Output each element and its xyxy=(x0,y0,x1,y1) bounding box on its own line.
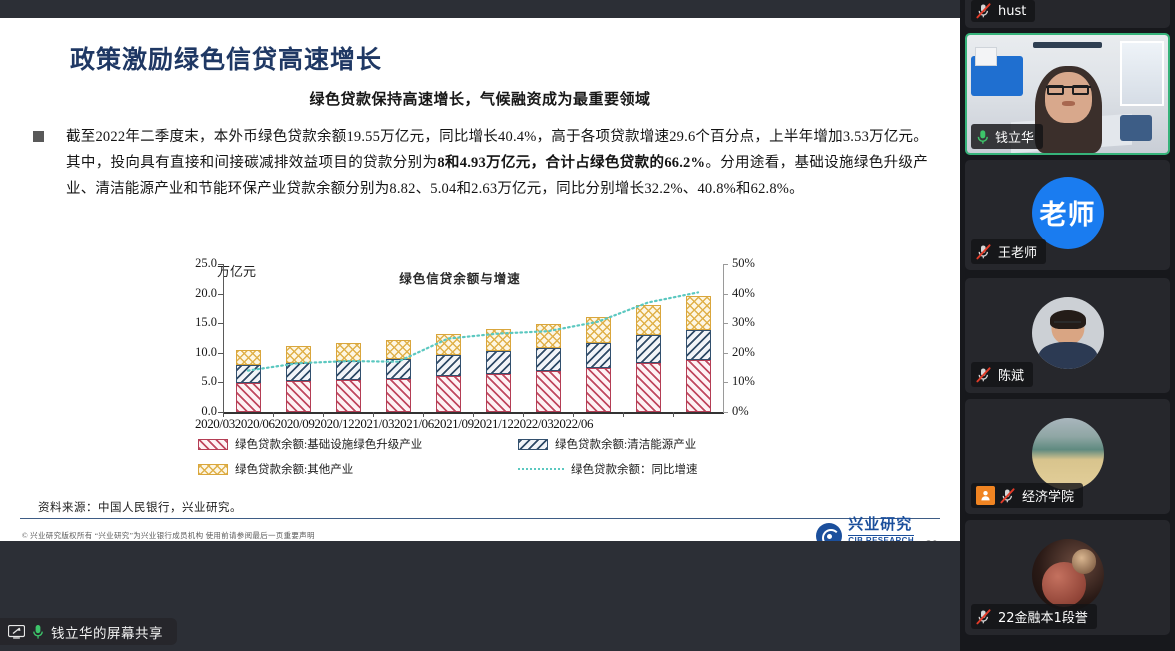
body-paragraph-block: 截至2022年二季度末，本外币绿色贷款余额19.55万亿元，同比增长40.4%，… xyxy=(33,124,933,202)
chart-bar-segment xyxy=(686,360,711,412)
participant-name: 王老师 xyxy=(998,242,1037,261)
chart-bar-segment xyxy=(586,317,611,344)
y-tick-left: 15.0 xyxy=(195,315,217,330)
y-tick-mark-right xyxy=(723,382,728,383)
y-tick-mark-right xyxy=(723,353,728,354)
microphone-muted-icon xyxy=(1000,488,1017,504)
legend-label-infrastructure: 绿色贷款余额:基础设施绿色升级产业 xyxy=(235,436,422,452)
chart-bar xyxy=(486,329,511,412)
y-tick-right: 30% xyxy=(732,315,755,330)
microphone-muted-icon xyxy=(976,367,993,383)
page-number: 29 xyxy=(926,537,938,541)
square-bullet-icon xyxy=(33,131,44,142)
participant-name: 经济学院 xyxy=(1022,486,1074,505)
y-tick-mark-right xyxy=(723,323,728,324)
y-tick-right: 10% xyxy=(732,374,755,389)
chart-bar xyxy=(586,317,611,412)
microphone-muted-icon xyxy=(1000,488,1017,504)
chart-bar-segment xyxy=(336,361,361,380)
microphone-on-icon xyxy=(32,624,44,640)
chart-bar-segment xyxy=(636,335,661,363)
legend-row: 绿色贷款余额:其他产业 绿色贷款余额：同比增速 xyxy=(198,461,778,477)
avatar xyxy=(1032,418,1104,490)
chart-bar-segment xyxy=(236,350,261,365)
legend-swatch-infrastructure xyxy=(198,439,228,450)
slide-subtitle: 绿色贷款保持高速增长，气候融资成为最重要领域 xyxy=(0,88,960,109)
chart-bar xyxy=(386,340,411,412)
y-tick-mark-left xyxy=(218,353,223,354)
legend-swatch-growth xyxy=(518,464,564,475)
avatar xyxy=(1032,539,1104,611)
y-tick-right: 40% xyxy=(732,286,755,301)
legend-swatch-other xyxy=(198,464,228,475)
logo-name-cn: 兴业研究 xyxy=(848,518,914,534)
chart-bar-segment xyxy=(486,374,511,412)
participant-tile[interactable]: 22金融本1段誉 xyxy=(965,520,1170,635)
chart-bar-segment xyxy=(236,365,261,383)
body-paragraph: 截至2022年二季度末，本外币绿色贷款余额19.55万亿元，同比增长40.4%，… xyxy=(66,124,928,202)
microphone-muted-icon xyxy=(976,244,993,260)
chart-bar-segment xyxy=(586,368,611,412)
participant-name-chip: 经济学院 xyxy=(971,483,1083,508)
copyright-note: © 兴业研究版权所有 “兴业研究”为兴业银行成员机构 使用前请参阅最后一页重要声… xyxy=(22,530,315,541)
microphone-muted-icon xyxy=(976,244,993,260)
legend-item-infrastructure: 绿色贷款余额:基础设施绿色升级产业 xyxy=(198,436,518,452)
y-tick-mark-left xyxy=(218,382,223,383)
shared-screen-region[interactable]: 政策激励绿色信贷高速增长 绿色贷款保持高速增长，气候融资成为最重要领域 截至20… xyxy=(0,0,960,651)
legend-swatch-clean-energy xyxy=(518,439,548,450)
y-tick-right: 20% xyxy=(732,345,755,360)
y-tick-left: 20.0 xyxy=(195,286,217,301)
logo-text-group: 兴业研究 CIB RESEARCH 金融资产专业定价 xyxy=(848,518,914,541)
chart-bar-segment xyxy=(436,334,461,355)
y-tick-left: 25.0 xyxy=(195,256,217,271)
chart-bar-segment xyxy=(686,330,711,360)
legend-item-clean-energy: 绿色贷款余额:清洁能源产业 xyxy=(518,436,696,452)
logo-name-en: CIB RESEARCH xyxy=(848,535,914,541)
avatar-initials: 老师 xyxy=(1040,193,1096,232)
participant-name-chip: 22金融本1段誉 xyxy=(971,604,1097,629)
chart-bar-segment xyxy=(536,371,561,412)
cib-swirl-icon xyxy=(816,523,842,541)
participant-name: 22金融本1段誉 xyxy=(998,607,1088,626)
chart-bar xyxy=(436,334,461,412)
participant-sidebar[interactable]: hust 钱立华老师 xyxy=(960,0,1175,651)
participant-tile[interactable]: 老师 王老师 xyxy=(965,160,1170,270)
chart-bar-segment xyxy=(386,340,411,359)
microphone-muted-icon xyxy=(976,609,993,625)
source-note: 资料来源：中国人民银行，兴业研究。 xyxy=(38,499,242,515)
participant-tile[interactable]: 钱立华 xyxy=(965,33,1170,155)
chart-bar-segment xyxy=(436,355,461,376)
chart-bar-segment xyxy=(636,305,661,335)
participant-tile[interactable]: hust xyxy=(965,0,1170,28)
microphone-muted-icon xyxy=(976,367,993,383)
y-tick-mark-left xyxy=(218,323,223,324)
chart-bar-segment xyxy=(436,376,461,412)
chart-legend: 绿色贷款余额:基础设施绿色升级产业 绿色贷款余额:清洁能源产业 绿色贷款余额:其… xyxy=(198,436,778,484)
screen-share-status-bar[interactable]: 钱立华的屏幕共享 xyxy=(0,618,177,645)
chart-bar-segment xyxy=(536,348,561,370)
legend-label-clean-energy: 绿色贷款余额:清洁能源产业 xyxy=(555,436,696,452)
legend-row: 绿色贷款余额:基础设施绿色升级产业 绿色贷款余额:清洁能源产业 xyxy=(198,436,778,452)
screen-share-icon xyxy=(8,625,25,639)
chart-bar-segment xyxy=(486,351,511,373)
brand-logo: 兴业研究 CIB RESEARCH 金融资产专业定价 29 xyxy=(816,518,938,541)
y-tick-mark-right xyxy=(723,412,728,413)
presentation-slide: 政策激励绿色信贷高速增长 绿色贷款保持高速增长，气候融资成为最重要领域 截至20… xyxy=(0,18,960,541)
chart-bar xyxy=(536,324,561,412)
conference-window: 政策激励绿色信贷高速增长 绿色贷款保持高速增长，气候融资成为最重要领域 截至20… xyxy=(0,0,1175,651)
participant-name: 钱立华 xyxy=(995,127,1034,146)
chart-bar xyxy=(686,296,711,412)
chart-bar-segment xyxy=(336,343,361,361)
chart-bar xyxy=(336,343,361,412)
host-badge-icon xyxy=(976,486,995,505)
microphone-on-icon xyxy=(976,129,990,145)
chart-bar-segment xyxy=(636,363,661,412)
microphone-muted-icon xyxy=(976,3,993,19)
participant-name: hust xyxy=(998,4,1026,19)
screen-share-owner-label: 钱立华的屏幕共享 xyxy=(51,622,163,642)
chart-bar-segment xyxy=(686,296,711,330)
participant-name: 陈斌 xyxy=(998,365,1024,384)
y-tick-left: 10.0 xyxy=(195,345,217,360)
chart-bar-segment xyxy=(536,324,561,348)
chart-bar-segment xyxy=(286,381,311,412)
participant-name-chip: 王老师 xyxy=(971,239,1046,264)
participant-name-chip: 钱立华 xyxy=(971,124,1043,149)
microphone-muted-icon xyxy=(976,3,993,19)
microphone-muted-icon xyxy=(976,609,993,625)
chart-bar-segment xyxy=(286,346,311,363)
participant-tile[interactable]: 经济学院 xyxy=(965,399,1170,514)
chart-y-axis-right xyxy=(723,264,724,412)
participant-name-chip: hust xyxy=(971,0,1035,22)
participant-tile[interactable]: 陈斌 xyxy=(965,278,1170,393)
chart-bar-segment xyxy=(586,343,611,368)
participant-name-chip: 陈斌 xyxy=(971,362,1033,387)
y-tick-right: 50% xyxy=(732,256,755,271)
chart-bar-segment xyxy=(386,379,411,412)
page-title: 政策激励绿色信贷高速增长 xyxy=(70,40,382,76)
chart-bar-segment xyxy=(236,383,261,412)
chart-bar-segment xyxy=(336,380,361,412)
chart-plot-area: 0.05.010.015.020.025.00%10%20%30%40%50% xyxy=(223,264,723,412)
legend-label-other: 绿色贷款余额:其他产业 xyxy=(235,461,353,477)
microphone-on-icon xyxy=(976,129,990,145)
y-tick-mark-left xyxy=(218,264,223,265)
legend-label-growth: 绿色贷款余额：同比增速 xyxy=(571,461,698,477)
chart-bar-segment xyxy=(486,329,511,351)
chart-bar xyxy=(286,346,311,412)
y-tick-mark-right xyxy=(723,294,728,295)
y-tick-mark-left xyxy=(218,294,223,295)
legend-item-growth: 绿色贷款余额：同比增速 xyxy=(518,461,698,477)
y-tick-mark-right xyxy=(723,264,728,265)
chart-bar xyxy=(236,350,261,412)
legend-item-other: 绿色贷款余额:其他产业 xyxy=(198,461,518,477)
footer-divider xyxy=(20,518,940,519)
chart-bar-segment xyxy=(386,359,411,379)
y-tick-left: 5.0 xyxy=(201,374,217,389)
avatar xyxy=(1032,297,1104,369)
chart-bar-segment xyxy=(286,363,311,381)
chart-x-tick-labels: 2020/032020/062020/092020/122021/032021/… xyxy=(195,416,753,432)
chart-bar xyxy=(636,305,661,412)
